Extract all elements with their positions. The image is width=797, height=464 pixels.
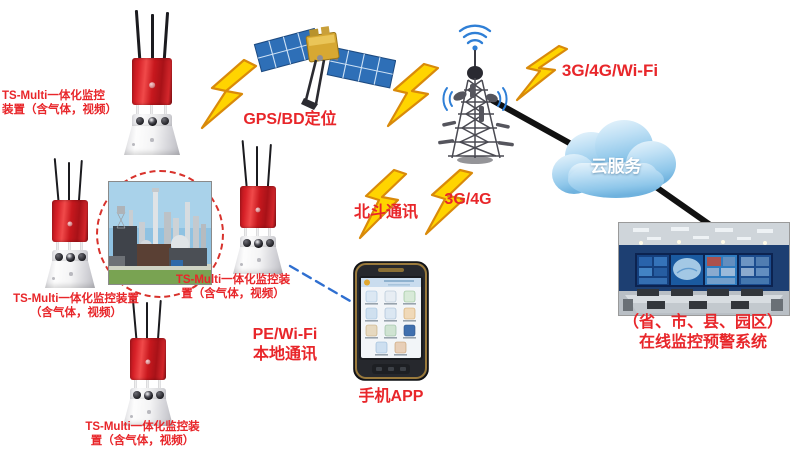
label-3g4g-wifi: 3G/4G/Wi-Fi <box>545 61 675 82</box>
satellite-icon <box>246 8 396 114</box>
label-gps-bd: GPS/BD定位 <box>230 110 350 130</box>
cloud-label: 云服务 <box>546 152 686 177</box>
label-device-mid-right: TS-Multi一体化监控装 置（含气体，视频） <box>168 273 298 301</box>
label-device-bottom: TS-Multi一体化监控装 置（含气体，视频） <box>75 420 210 448</box>
label-beidou: 北斗通讯 <box>351 203 421 223</box>
cloud-service-icon: 云服务 <box>546 118 686 210</box>
label-device-mid-left: TS-Multi一体化监控装置 （含气体，视频） <box>0 292 152 320</box>
monitor-device-mid-right <box>222 140 314 285</box>
network-topology-diagram: 云服务 <box>0 0 797 464</box>
label-phone-app: 手机APP <box>350 387 432 407</box>
monitor-device-mid-left <box>34 158 126 300</box>
rugged-phone-icon <box>352 260 430 382</box>
label-3g4g: 3G/4G <box>438 190 498 210</box>
label-device-top-left: TS-Multi一体化监控 装置（含气体，视频） <box>2 89 132 117</box>
cell-tower-icon <box>424 18 528 164</box>
label-control-center: （省、市、县、园区） 在线监控预警系统 <box>612 313 794 352</box>
monitor-device-top-left <box>108 10 200 160</box>
label-pe-wifi: PE/Wi-Fi 本地通讯 <box>240 325 330 364</box>
control-room-photo <box>618 222 790 316</box>
